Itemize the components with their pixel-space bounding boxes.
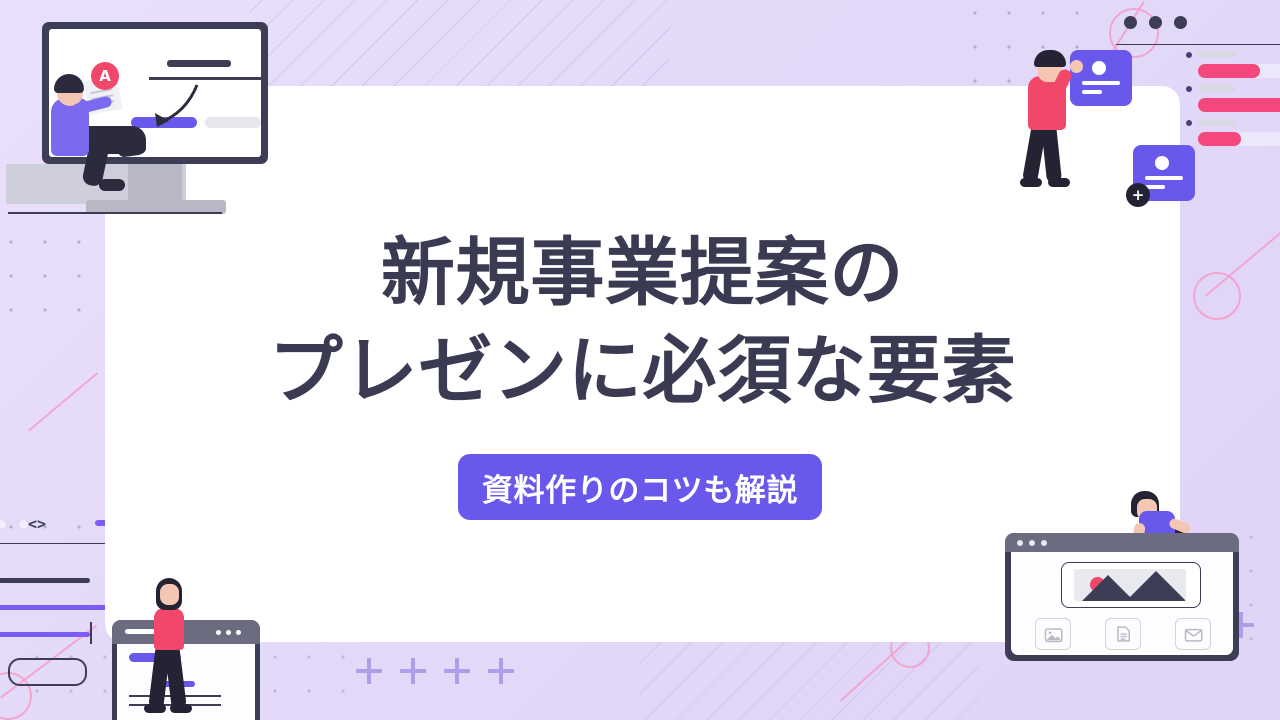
mountain-right [1126, 571, 1186, 601]
progress-label-1 [1198, 51, 1236, 58]
progress-fill-1 [1198, 64, 1260, 78]
progress-fill-3 [1198, 132, 1241, 146]
person2-hand [1070, 60, 1083, 73]
image-icon-button [1035, 618, 1071, 650]
image-preview-box [1061, 562, 1201, 608]
person4-shoe-right [170, 704, 192, 713]
window-mockup-label [125, 629, 155, 634]
curved-arrow-icon [145, 79, 201, 135]
plus-mark-1 [356, 658, 382, 684]
person2-hair [1034, 50, 1066, 67]
person2-shoe-left [1020, 178, 1042, 187]
plus-mark-2 [400, 658, 426, 684]
mail-icon [1176, 619, 1210, 649]
person2-shoe-right [1048, 178, 1070, 187]
browser-window [1005, 533, 1239, 661]
subtitle-badge: 資料作りのコツも解説 [458, 454, 822, 520]
person4-face [160, 584, 179, 605]
profile-card-upper [1070, 50, 1132, 106]
letter-a-badge: A [91, 62, 119, 90]
image-icon [1036, 619, 1070, 649]
pink-circle-right [1193, 272, 1241, 320]
title-line-1: 新規事業提案の [105, 225, 1180, 323]
screen-heading-bar [167, 60, 231, 67]
monitor-ground-line [8, 212, 222, 214]
plus-mark-4 [488, 658, 514, 684]
progress-label-3 [1198, 119, 1236, 126]
screen-secondary-button [205, 117, 261, 128]
person1-shoe-left [99, 179, 125, 191]
left-pill-outline [8, 658, 87, 686]
illustration-browser-media [1005, 533, 1239, 661]
progress-fill-2 [1198, 98, 1280, 112]
thumbnail-canvas: <> 新規事業提案の プレゼンに必須な要素 資料作りのコツも解説 [0, 0, 1280, 720]
illustration-person-cards: + [1000, 28, 1200, 208]
left-bar-purple-short [0, 632, 90, 637]
title-line-2: プレゼンに必須な要素 [105, 323, 1180, 421]
left-edge-circles [0, 519, 29, 530]
window-mockup-title-bar [112, 620, 260, 644]
left-bar-dark [0, 578, 90, 583]
browser-viewport [1011, 552, 1233, 655]
plus-mark-3 [444, 658, 470, 684]
code-tag-icon: <> [28, 515, 46, 533]
document-icon [1106, 619, 1140, 649]
document-icon-button [1105, 618, 1141, 650]
browser-title-bar [1005, 533, 1239, 552]
left-tick [90, 622, 92, 644]
illustration-monitor-person: A [42, 22, 272, 227]
add-card-button: + [1126, 183, 1150, 207]
mail-icon-button [1175, 618, 1211, 650]
person4-shoe-left [144, 704, 166, 713]
illustration-walking-person [112, 566, 272, 720]
page-title: 新規事業提案の プレゼンに必須な要素 [105, 225, 1180, 420]
progress-bar-group [1186, 48, 1280, 158]
progress-label-2 [1198, 85, 1236, 92]
person2-leg-right [1041, 123, 1062, 182]
person4-torso [154, 608, 184, 650]
